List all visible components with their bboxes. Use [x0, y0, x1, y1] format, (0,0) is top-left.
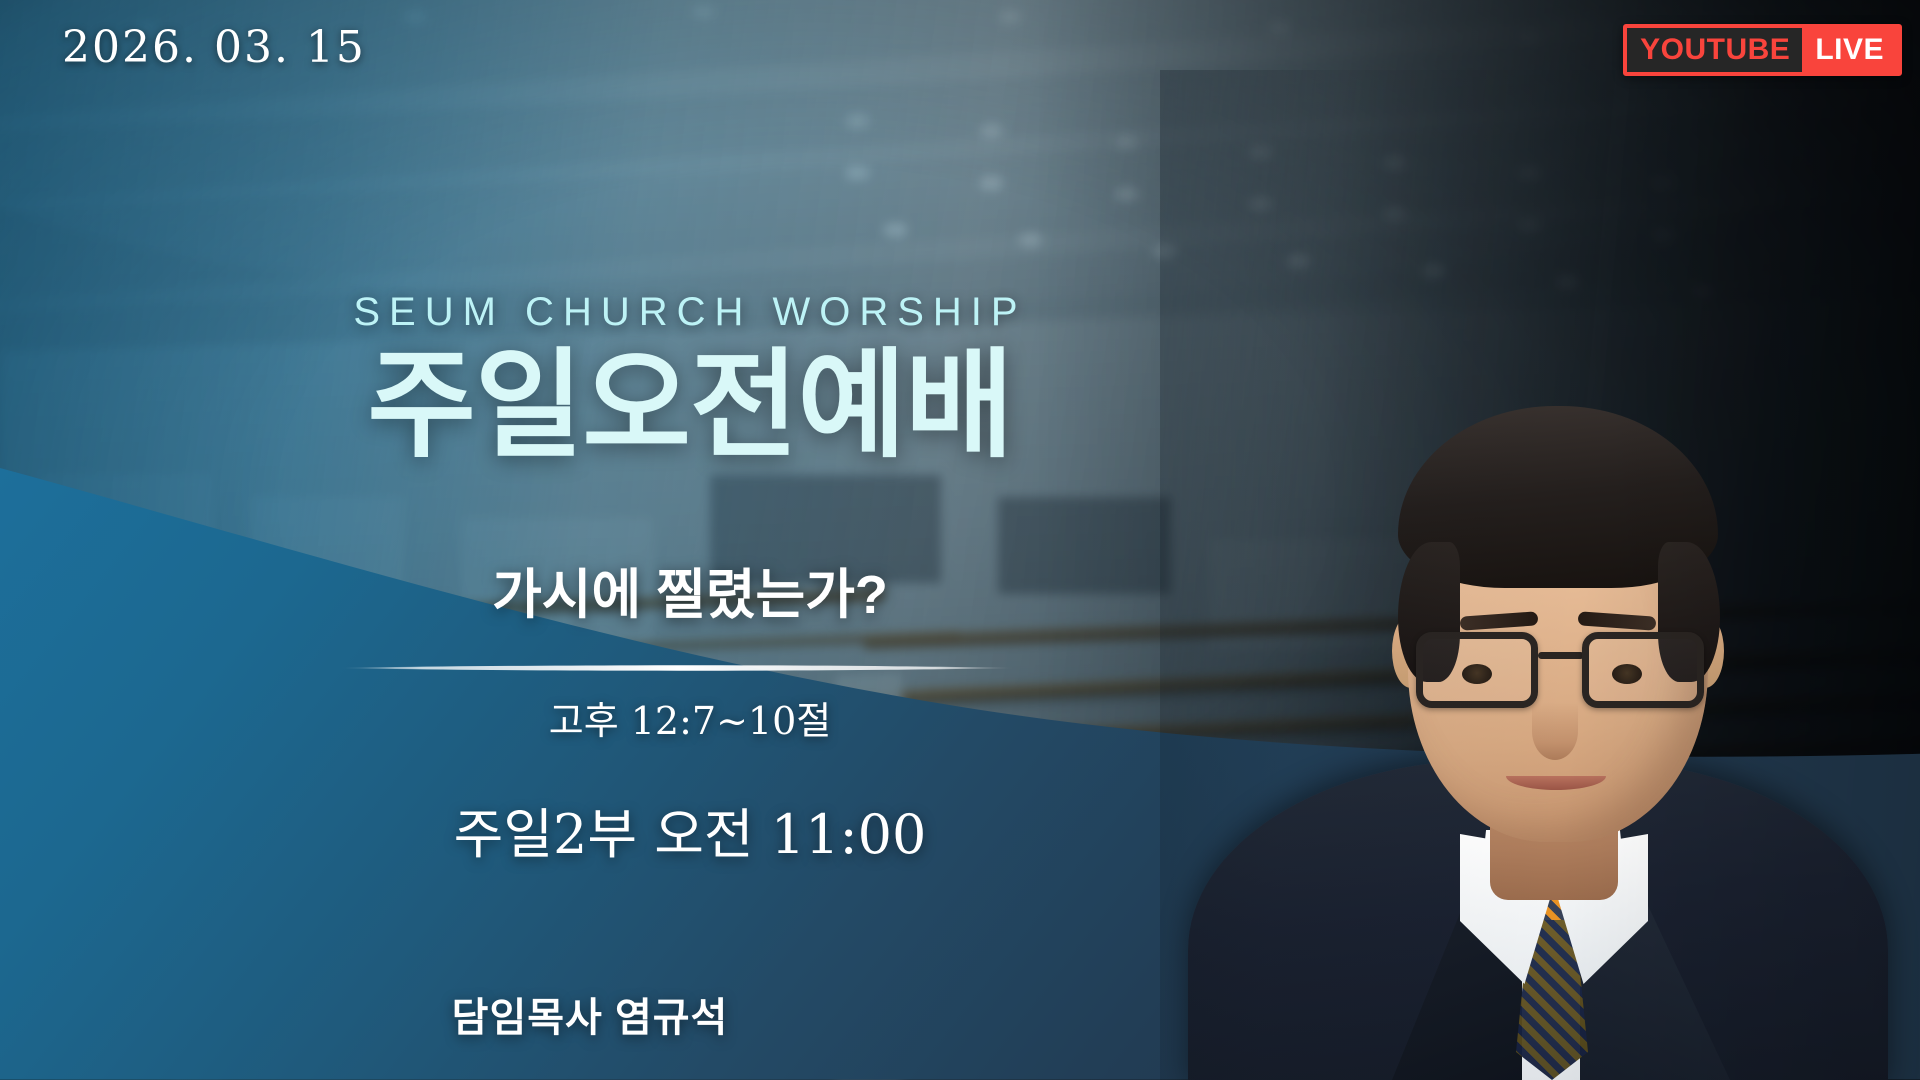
live-status-label: LIVE — [1802, 28, 1898, 72]
eyeglasses-icon — [1416, 632, 1704, 712]
worship-headline: 주일오전예배 — [0, 340, 1380, 472]
eyeglass-lens-left — [1416, 632, 1538, 708]
broadcast-date: 2026. 03. 15 — [62, 22, 366, 73]
nose — [1532, 702, 1578, 760]
service-time: 주일2부 오전 11:00 — [0, 790, 1380, 869]
eyeglass-lens-right — [1582, 632, 1704, 708]
speaker-name: 담임목사 염규석 — [0, 985, 1180, 1043]
church-eyebrow-text: SEUM CHURCH WORSHIP — [0, 290, 1380, 335]
youtube-label: YOUTUBE — [1627, 28, 1802, 72]
eyeglass-bridge — [1538, 652, 1584, 659]
sermon-title: 가시에 찔렸는가? — [0, 550, 1380, 629]
youtube-live-badge[interactable]: YOUTUBE LIVE — [1623, 24, 1902, 76]
scripture-reference: 고후 12:7~10절 — [0, 690, 1380, 745]
live-worship-thumbnail: 2026. 03. 15 YOUTUBE LIVE SEUM CHURCH WO… — [0, 0, 1920, 1080]
